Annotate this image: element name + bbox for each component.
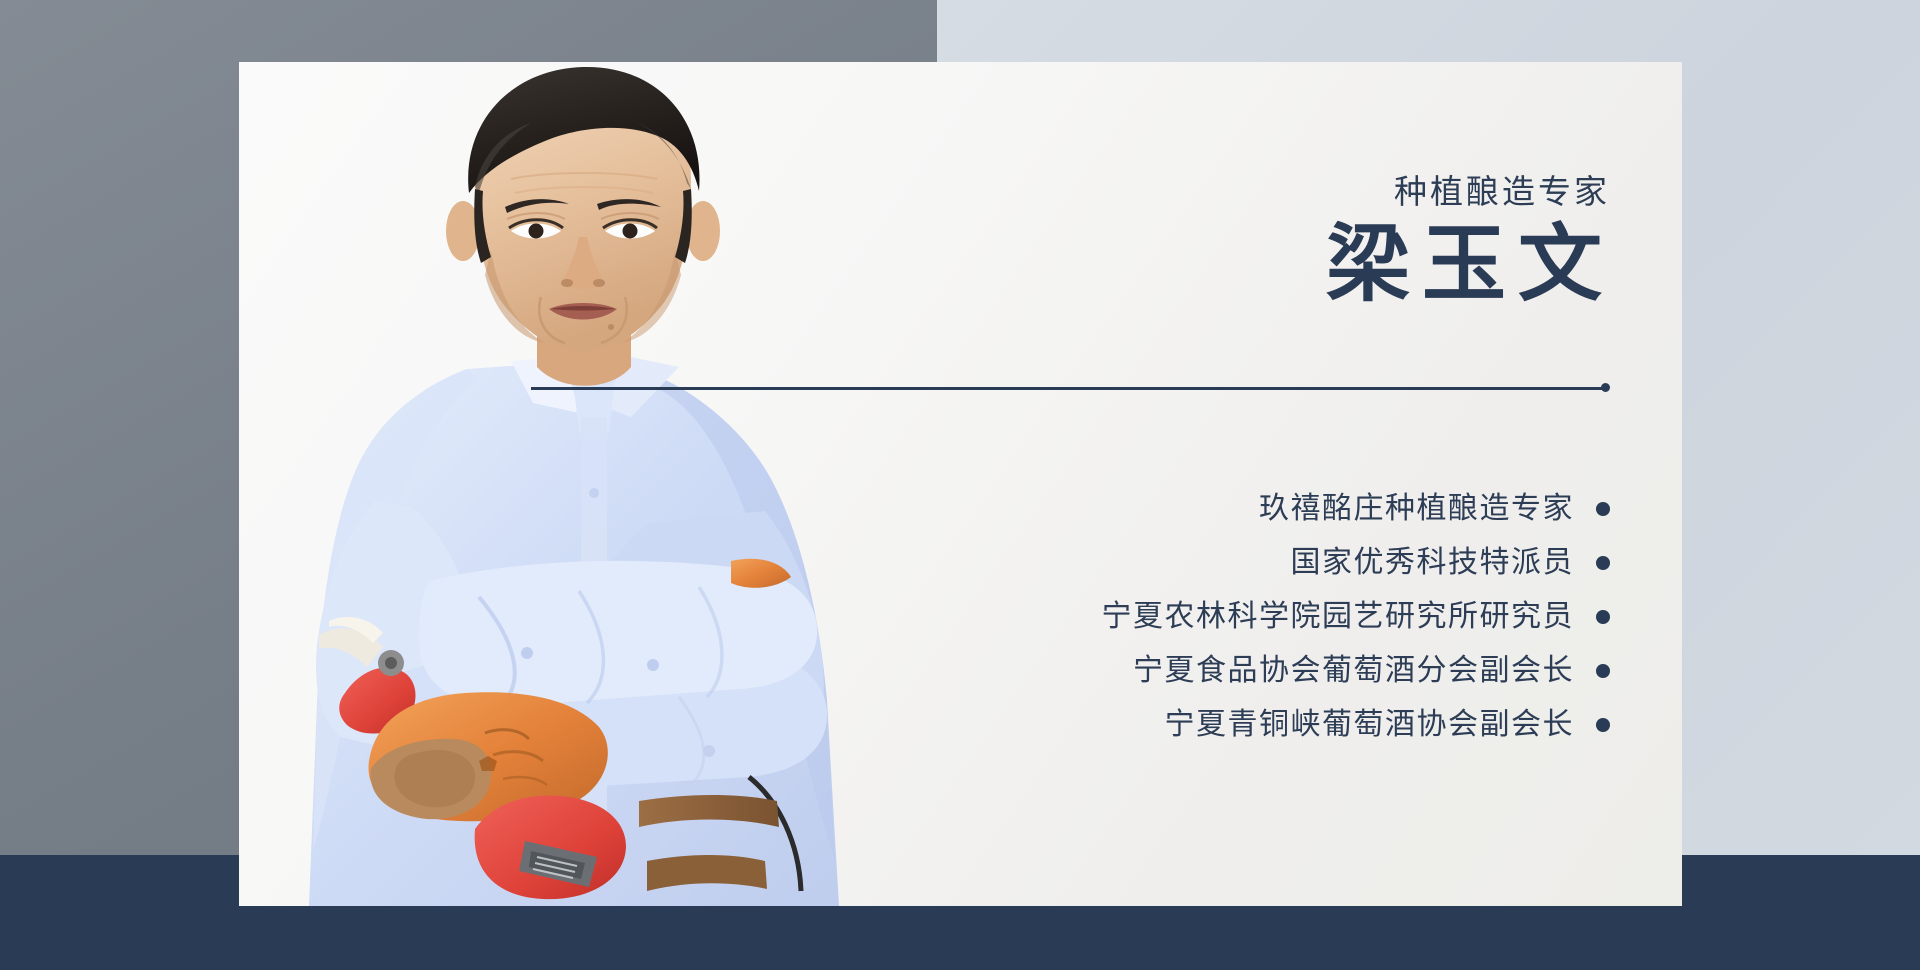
profile-eyebrow: 种植酿造专家 [1394, 175, 1610, 208]
list-item: 宁夏食品协会葡萄酒分会副会长 [659, 644, 1610, 698]
divider-rule [531, 386, 1610, 390]
list-item: 国家优秀科技特派员 [659, 536, 1610, 590]
list-item: 宁夏青铜峡葡萄酒协会副会长 [659, 698, 1610, 752]
profile-card: 种植酿造专家 梁玉文 玖禧酩庄种植酿造专家 国家优秀科技特派员 宁夏农林科学院园… [239, 62, 1682, 906]
bullet-dot-icon [1596, 502, 1610, 516]
bullet-dot-icon [1596, 556, 1610, 570]
credentials-list: 玖禧酩庄种植酿造专家 国家优秀科技特派员 宁夏农林科学院园艺研究所研究员 宁夏食… [659, 482, 1610, 752]
profile-text-column: 种植酿造专家 梁玉文 玖禧酩庄种植酿造专家 国家优秀科技特派员 宁夏农林科学院园… [659, 62, 1610, 906]
divider-end-dot [1601, 383, 1610, 392]
bullet-dot-icon [1596, 718, 1610, 732]
bullet-dot-icon [1596, 610, 1610, 624]
credential-label: 宁夏农林科学院园艺研究所研究员 [1102, 602, 1575, 632]
divider-line [531, 387, 1602, 390]
credential-label: 宁夏青铜峡葡萄酒协会副会长 [1165, 710, 1575, 740]
bullet-dot-icon [1596, 664, 1610, 678]
list-item: 宁夏农林科学院园艺研究所研究员 [659, 590, 1610, 644]
profile-name: 梁玉文 [1326, 224, 1614, 308]
credential-label: 国家优秀科技特派员 [1291, 548, 1575, 578]
credential-label: 玖禧酩庄种植酿造专家 [1259, 494, 1574, 524]
credential-label: 宁夏食品协会葡萄酒分会副会长 [1133, 656, 1574, 686]
list-item: 玖禧酩庄种植酿造专家 [659, 482, 1610, 536]
